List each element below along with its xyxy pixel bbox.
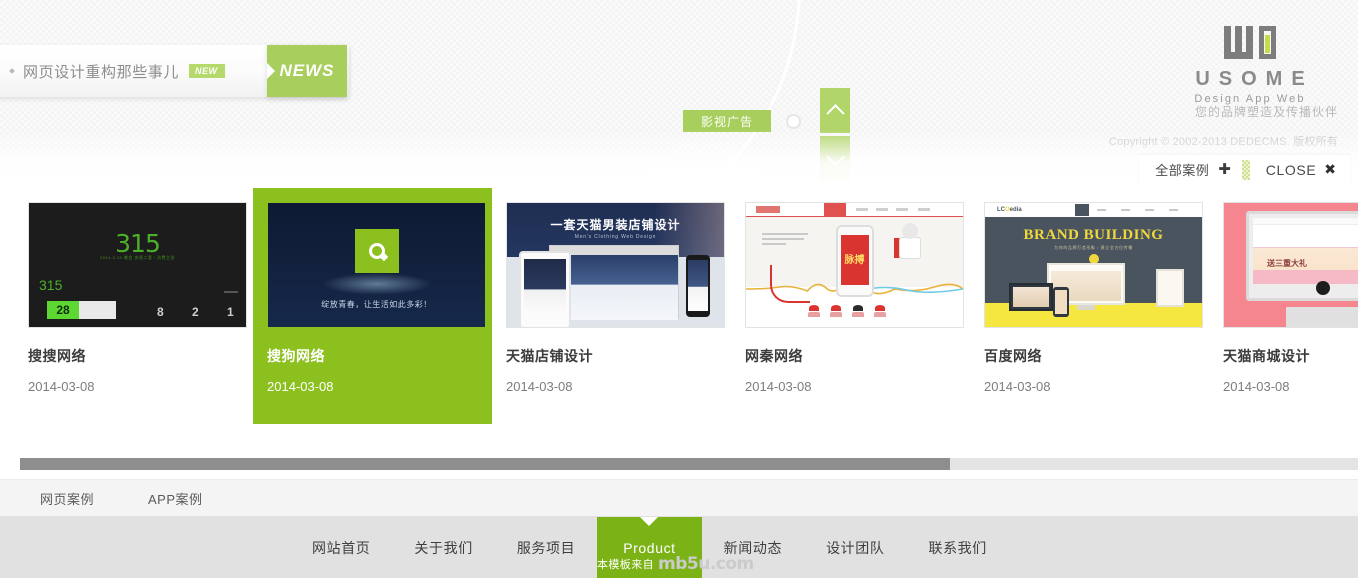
thumb-white-block xyxy=(79,301,116,319)
case-card-title[interactable]: 百度网络 xyxy=(984,346,1195,366)
site-logo[interactable]: USOME Design App Web xyxy=(1160,22,1340,105)
phone-mockup xyxy=(686,255,710,317)
thumb-number: 2 xyxy=(192,305,199,319)
case-thumbnail[interactable]: BRAND BUILDING 为你的品牌打造形象 / 建立全方位传播 LCOed… xyxy=(984,202,1203,328)
action-bar-separator xyxy=(1242,160,1250,180)
thumb-text-lines xyxy=(762,233,810,248)
case-card-date: 2014-03-08 xyxy=(745,379,956,394)
case-card-date: 2014-03-08 xyxy=(984,379,1195,394)
nav-item-team[interactable]: 设计团队 xyxy=(804,517,906,578)
thumb-caption: 绽放青春，让生活如此多彩！ xyxy=(268,299,485,310)
decorative-curve xyxy=(560,0,820,188)
thumb-line-decoration xyxy=(224,291,238,293)
magnifier-icon xyxy=(369,243,385,259)
brand-slogan: 您的品牌塑造及传播伙伴 xyxy=(1195,103,1338,120)
watermark-en-text: mb5u.com xyxy=(658,554,754,574)
scroll-down-button[interactable] xyxy=(820,136,850,181)
thumb-number: 1 xyxy=(227,305,234,319)
case-card[interactable]: 脉搏 网秦网络 2014-03-08 xyxy=(731,188,970,424)
news-tab-label: NEWS xyxy=(280,61,335,81)
tab-web-cases[interactable]: 网页案例 xyxy=(40,489,94,508)
thumb-corner-mark: 315 xyxy=(39,277,62,293)
brand-logo-icon: LCOedia xyxy=(997,207,1022,213)
thumb-subheading: Men's Clothing Web Design xyxy=(507,234,724,240)
monitor-stand xyxy=(1077,305,1095,310)
chevron-down-icon xyxy=(826,148,844,166)
tablet-mockup xyxy=(1156,269,1184,307)
thumb-nav-active xyxy=(824,203,846,217)
news-new-badge: NEW xyxy=(189,64,225,79)
news-tab-button[interactable]: NEWS xyxy=(267,45,347,97)
case-card-title[interactable]: 天猫店铺设计 xyxy=(506,346,717,366)
phone-mockup: 脉搏 xyxy=(836,225,874,297)
phone-mockup xyxy=(1053,287,1069,317)
case-thumbnail[interactable]: 绽放青春，让生活如此多彩！ xyxy=(267,202,486,328)
nav-item-about[interactable]: 关于我们 xyxy=(392,517,494,578)
scroll-up-button[interactable] xyxy=(820,88,850,133)
case-card[interactable]: BRAND BUILDING 为你的品牌打造形象 / 建立全方位传播 LCOed… xyxy=(970,188,1209,424)
thumb-glow-decoration xyxy=(322,273,432,295)
site-header: 网页设计重构那些事儿 NEW NEWS 影视广告 xyxy=(0,0,1358,188)
case-card[interactable]: 送三重大礼 TRIPLE GIFT 天猫商城设计 2014-03-0 xyxy=(1209,188,1358,424)
thumb-heading: 送三重大礼 xyxy=(1267,258,1307,269)
nav-item-services[interactable]: 服务项目 xyxy=(495,517,597,578)
thumb-heading: 一套天猫男装店铺设计 xyxy=(507,216,724,233)
case-card-date: 2014-03-08 xyxy=(506,379,717,394)
logo-mark-icon xyxy=(1160,22,1340,66)
monitor-knob-icon xyxy=(1316,281,1330,295)
monitor-mockup: 送三重大礼 TRIPLE GIFT xyxy=(1246,211,1358,301)
laptop-mockup xyxy=(1009,283,1053,311)
chevron-up-icon xyxy=(826,104,844,122)
nav-item-contact[interactable]: 联系我们 xyxy=(906,517,1008,578)
case-card-title[interactable]: 网秦网络 xyxy=(745,346,956,366)
case-card-date: 2014-03-08 xyxy=(28,379,239,394)
bullet-icon xyxy=(9,68,15,74)
monitor-base xyxy=(1286,307,1358,327)
avatar-icon xyxy=(874,305,886,319)
thumb-nav-band xyxy=(746,203,963,217)
case-thumbnail[interactable]: 送三重大礼 TRIPLE GIFT xyxy=(1223,202,1358,328)
watermark-cn-text: 本模板来自 xyxy=(597,556,654,572)
copyright-text: Copyright © 2002-2013 DEDECMS. 版权所有 xyxy=(1109,133,1338,149)
thumb-subheading: 2014.3.15 晚会 央视二套・消费主张 xyxy=(100,255,175,261)
case-card-track: 315 2014.3.15 晚会 央视二套・消费主张 315 28 8 2 1 … xyxy=(0,188,1358,424)
mascot-icon xyxy=(895,223,925,263)
page-root: 网页设计重构那些事儿 NEW NEWS 影视广告 xyxy=(0,0,1358,578)
horizontal-scrollbar-thumb[interactable] xyxy=(20,458,950,470)
nav-item-home[interactable]: 网站首页 xyxy=(290,517,392,578)
news-ticker-title[interactable]: 网页设计重构那些事儿 xyxy=(23,61,179,82)
thumb-heading: 315 xyxy=(115,229,160,258)
category-label-text: 影视广告 xyxy=(701,113,753,130)
thumb-nav-band: LCOedia xyxy=(985,203,1202,217)
case-thumbnail[interactable]: 脉搏 xyxy=(745,202,964,328)
case-thumbnail[interactable]: 315 2014.3.15 晚会 央视二套・消费主张 315 28 8 2 1 xyxy=(28,202,247,328)
monitor-screen: 送三重大礼 TRIPLE GIFT xyxy=(1253,218,1358,284)
tablet-mockup xyxy=(519,251,571,328)
case-card-date: 2014-03-08 xyxy=(1223,379,1358,394)
curve-node-dot xyxy=(786,114,801,129)
category-label[interactable]: 影视广告 xyxy=(683,110,771,132)
case-filter-tabs: 网页案例 APP案例 xyxy=(0,479,1358,517)
thumb-phone-text: 脉搏 xyxy=(841,251,869,266)
thumb-subheading: 为你的品牌打造形象 / 建立全方位传播 xyxy=(985,245,1202,251)
thumb-green-number: 28 xyxy=(47,301,79,319)
thumb-heading: BRAND BUILDING xyxy=(985,227,1202,244)
avatar-icon xyxy=(852,305,864,319)
tab-app-cases[interactable]: APP案例 xyxy=(148,489,203,508)
avatar-icon xyxy=(808,305,820,319)
case-card[interactable]: 一套天猫男装店铺设计 Men's Clothing Web Design 天猫店… xyxy=(492,188,731,424)
cord-graphic xyxy=(770,265,810,303)
case-card-title[interactable]: 天猫商城设计 xyxy=(1223,346,1358,366)
template-watermark: 本模板来自 mb5u.com xyxy=(597,553,754,575)
case-card-title[interactable]: 搜狗网络 xyxy=(267,346,478,366)
case-card-date: 2014-03-08 xyxy=(267,379,478,394)
all-cases-button[interactable]: 全部案例 xyxy=(1155,160,1209,179)
case-thumbnail[interactable]: 一套天猫男装店铺设计 Men's Clothing Web Design xyxy=(506,202,725,328)
avatar-icon xyxy=(830,305,842,319)
netqin-logo-icon xyxy=(756,206,780,213)
action-bar: 全部案例 ✚ CLOSE ✖ xyxy=(1139,155,1350,184)
case-card-title[interactable]: 搜搜网络 xyxy=(28,346,239,366)
close-button[interactable]: CLOSE xyxy=(1266,162,1316,178)
case-card[interactable]: 315 2014.3.15 晚会 央视二套・消费主张 315 28 8 2 1 … xyxy=(0,188,253,424)
quote-mark-decoration xyxy=(620,130,790,188)
plus-icon[interactable]: ✚ xyxy=(1218,162,1231,177)
case-card[interactable]: 绽放青春，让生活如此多彩！ 搜狗网络 2014-03-08 xyxy=(253,188,492,424)
logo-wordmark: USOME xyxy=(1160,69,1340,89)
thumb-number: 8 xyxy=(157,305,164,319)
close-icon[interactable]: ✖ xyxy=(1324,161,1336,178)
case-card-strip[interactable]: 315 2014.3.15 晚会 央视二套・消费主张 315 28 8 2 1 … xyxy=(0,188,1358,452)
sogou-logo-icon xyxy=(355,229,399,273)
